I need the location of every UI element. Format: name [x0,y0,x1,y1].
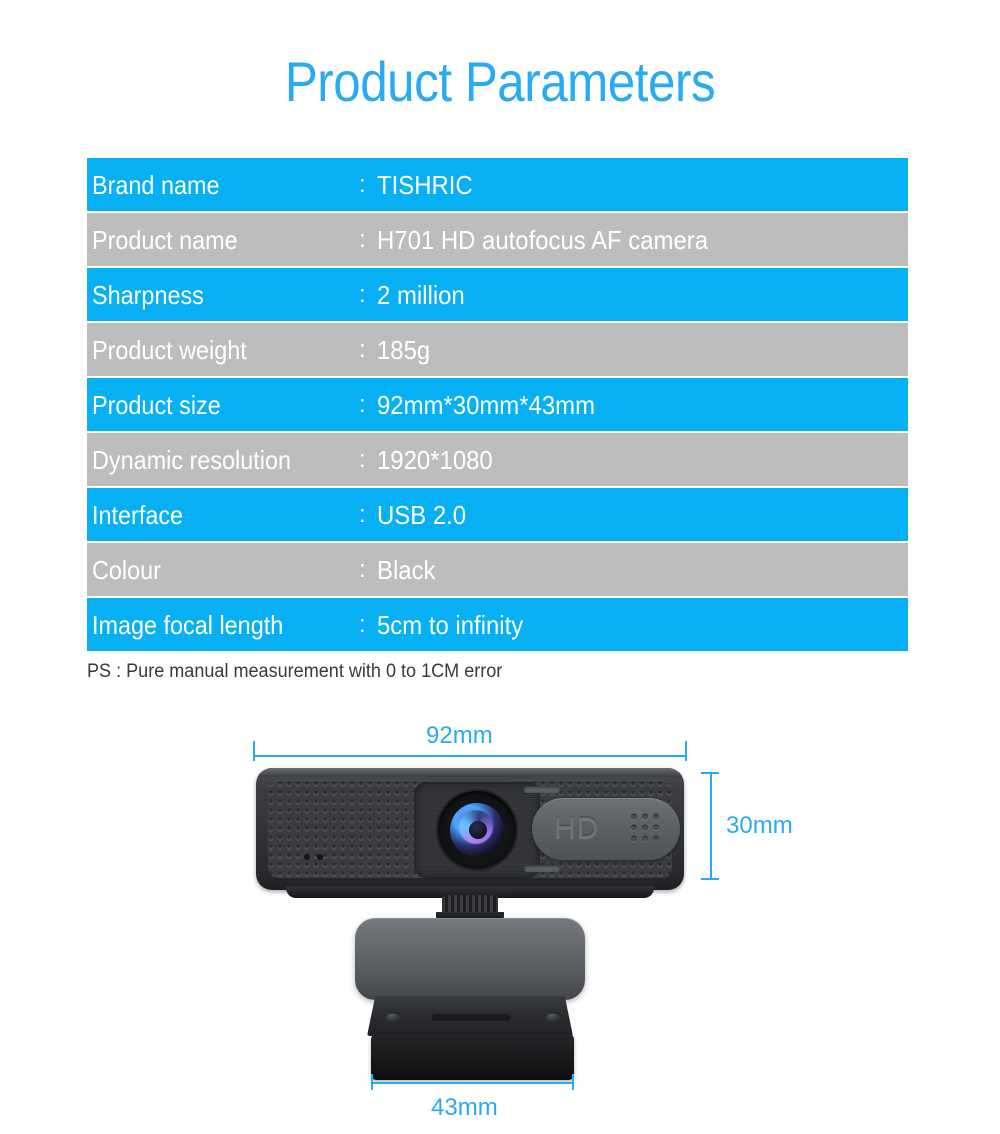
spec-separator: : [359,226,366,254]
lens-glass [450,803,504,857]
table-row: Interface : USB 2.0 [87,488,908,541]
body-texture-panel-left [268,780,436,878]
spec-value: 185g [377,335,430,365]
spec-value: 2 million [377,280,465,310]
spec-label: Image focal length [92,610,283,640]
privacy-shutter-slider[interactable]: HD [532,798,680,860]
spec-label: Colour [92,555,161,585]
table-row: Product weight : 185g [87,323,908,376]
product-figure: 92mm 30mm HD [0,700,1000,1134]
privacy-slider-rail-bottom [524,865,560,872]
spec-separator: : [359,391,366,419]
spec-separator: : [359,171,366,199]
screw-boss-left [385,1012,401,1022]
spec-separator: : [359,501,366,529]
spec-value: USB 2.0 [377,500,466,530]
spec-label: Product size [92,390,221,420]
spec-separator: : [359,281,366,309]
page-title: Product Parameters [60,48,940,116]
dimension-label-width: 92mm [426,722,493,750]
dimension-cap-width-right [685,741,687,761]
spec-value: Black [377,555,435,585]
spec-label: Brand name [92,170,219,200]
spec-separator: : [359,611,366,639]
table-row: Product name : H701 HD autofocus AF came… [87,213,908,266]
stand-base-block [371,1034,574,1080]
table-row: Brand name : TISHRIC [87,158,908,211]
spec-value: TISHRIC [377,170,473,200]
dimension-cap-depth-left [371,1074,373,1090]
spec-value: H701 HD autofocus AF camera [377,225,708,255]
screw-boss-right [545,1012,561,1022]
measurement-note: PS : Pure manual measurement with 0 to 1… [87,660,502,684]
hd-badge-label: HD [554,812,599,846]
dimension-line-depth [371,1082,574,1084]
spec-value: 1920*1080 [377,445,493,475]
microphone-dots-left [304,854,323,860]
dimension-label-depth: 43mm [431,1094,498,1122]
spec-label: Product weight [92,335,247,365]
table-row: Dynamic resolution : 1920*1080 [87,433,908,486]
mounting-clamp-block [355,918,585,1000]
privacy-slider-rail-top [524,786,560,793]
table-row: Product size : 92mm*30mm*43mm [87,378,908,431]
spec-value: 5cm to infinity [377,610,523,640]
spec-separator: : [359,446,366,474]
dimension-cap-depth-right [572,1074,574,1090]
spec-separator: : [359,556,366,584]
table-row: Colour : Black [87,543,908,596]
spec-label: Product name [92,225,238,255]
spec-label: Dynamic resolution [92,445,291,475]
dimension-line-width [253,755,687,757]
table-row: Image focal length : 5cm to infinity [87,598,908,651]
dimension-line-height [710,772,712,880]
dimension-label-height: 30mm [726,812,793,840]
spec-label: Interface [92,500,183,530]
camera-lens-icon [438,791,516,869]
lens-housing [414,782,540,878]
spec-separator: : [359,336,366,364]
product-parameters-table: Brand name : TISHRIC Product name : H701… [87,158,908,653]
spec-value: 92mm*30mm*43mm [377,390,595,420]
dimension-cap-width-left [253,741,255,761]
table-row: Sharpness : 2 million [87,268,908,321]
dimension-cap-height-top [701,772,719,774]
dimension-cap-height-bottom [701,878,719,880]
plate-slot [432,1014,510,1021]
slider-vent-dots [631,814,662,845]
spec-label: Sharpness [92,280,204,310]
webcam-body: HD [256,768,684,890]
